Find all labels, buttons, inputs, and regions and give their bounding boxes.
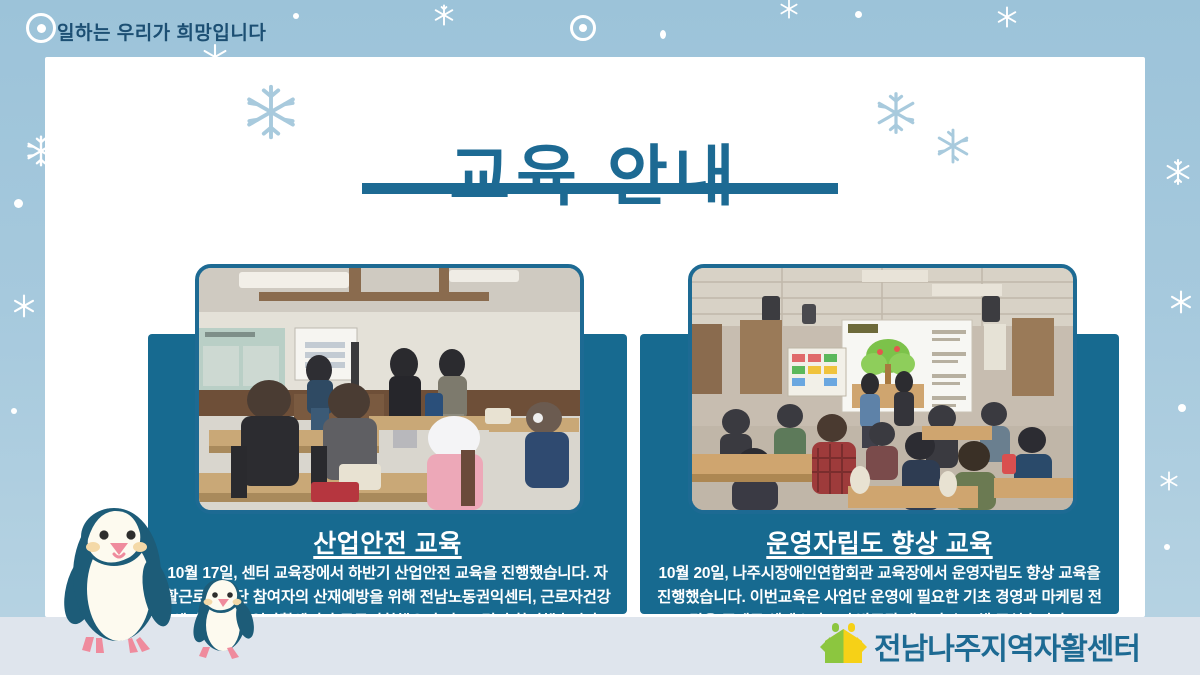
dot-icon — [1178, 404, 1186, 412]
snowflake-icon — [778, 0, 800, 20]
education-card-management-capacity[interactable]: 운영자립도 향상 교육 10월 20일, 나주시장애인연합회관 교육장에서 운영… — [640, 334, 1119, 614]
title-underline-rule — [362, 183, 838, 194]
card-photo-industrial-safety — [195, 264, 584, 514]
dot-icon — [14, 199, 23, 208]
dot-icon — [855, 11, 862, 18]
dot-icon — [1164, 544, 1170, 550]
snowflake-icon — [11, 293, 37, 319]
snowflake-icon — [1163, 157, 1193, 187]
house-logo-icon — [820, 623, 867, 670]
snowflake-icon — [995, 5, 1019, 29]
organization-name: 전남나주지역자활센터 — [874, 624, 1140, 668]
target-circle-icon — [26, 13, 56, 43]
organization-logo[interactable]: 전남나주지역자활센터 — [820, 624, 1140, 668]
card-photo-management-capacity — [688, 264, 1077, 514]
snowflake-icon — [873, 90, 919, 136]
snowflake-icon — [1158, 470, 1180, 492]
dot-icon — [660, 30, 666, 39]
slide-tagline: 일하는 우리가 희망입니다 — [57, 18, 266, 45]
snowflake-icon — [1168, 289, 1194, 315]
page-title: 교육 안내 — [45, 143, 1145, 209]
card-title: 운영자립도 향상 교육 — [640, 524, 1119, 560]
dot-icon — [11, 408, 17, 414]
penguin-illustration — [52, 497, 262, 662]
target-circle-icon — [570, 15, 596, 41]
slide-canvas: 일하는 우리가 희망입니다 교육 안내 — [0, 0, 1200, 675]
dot-icon — [293, 13, 299, 19]
snowflake-icon — [432, 3, 456, 27]
snowflake-icon — [241, 82, 301, 142]
